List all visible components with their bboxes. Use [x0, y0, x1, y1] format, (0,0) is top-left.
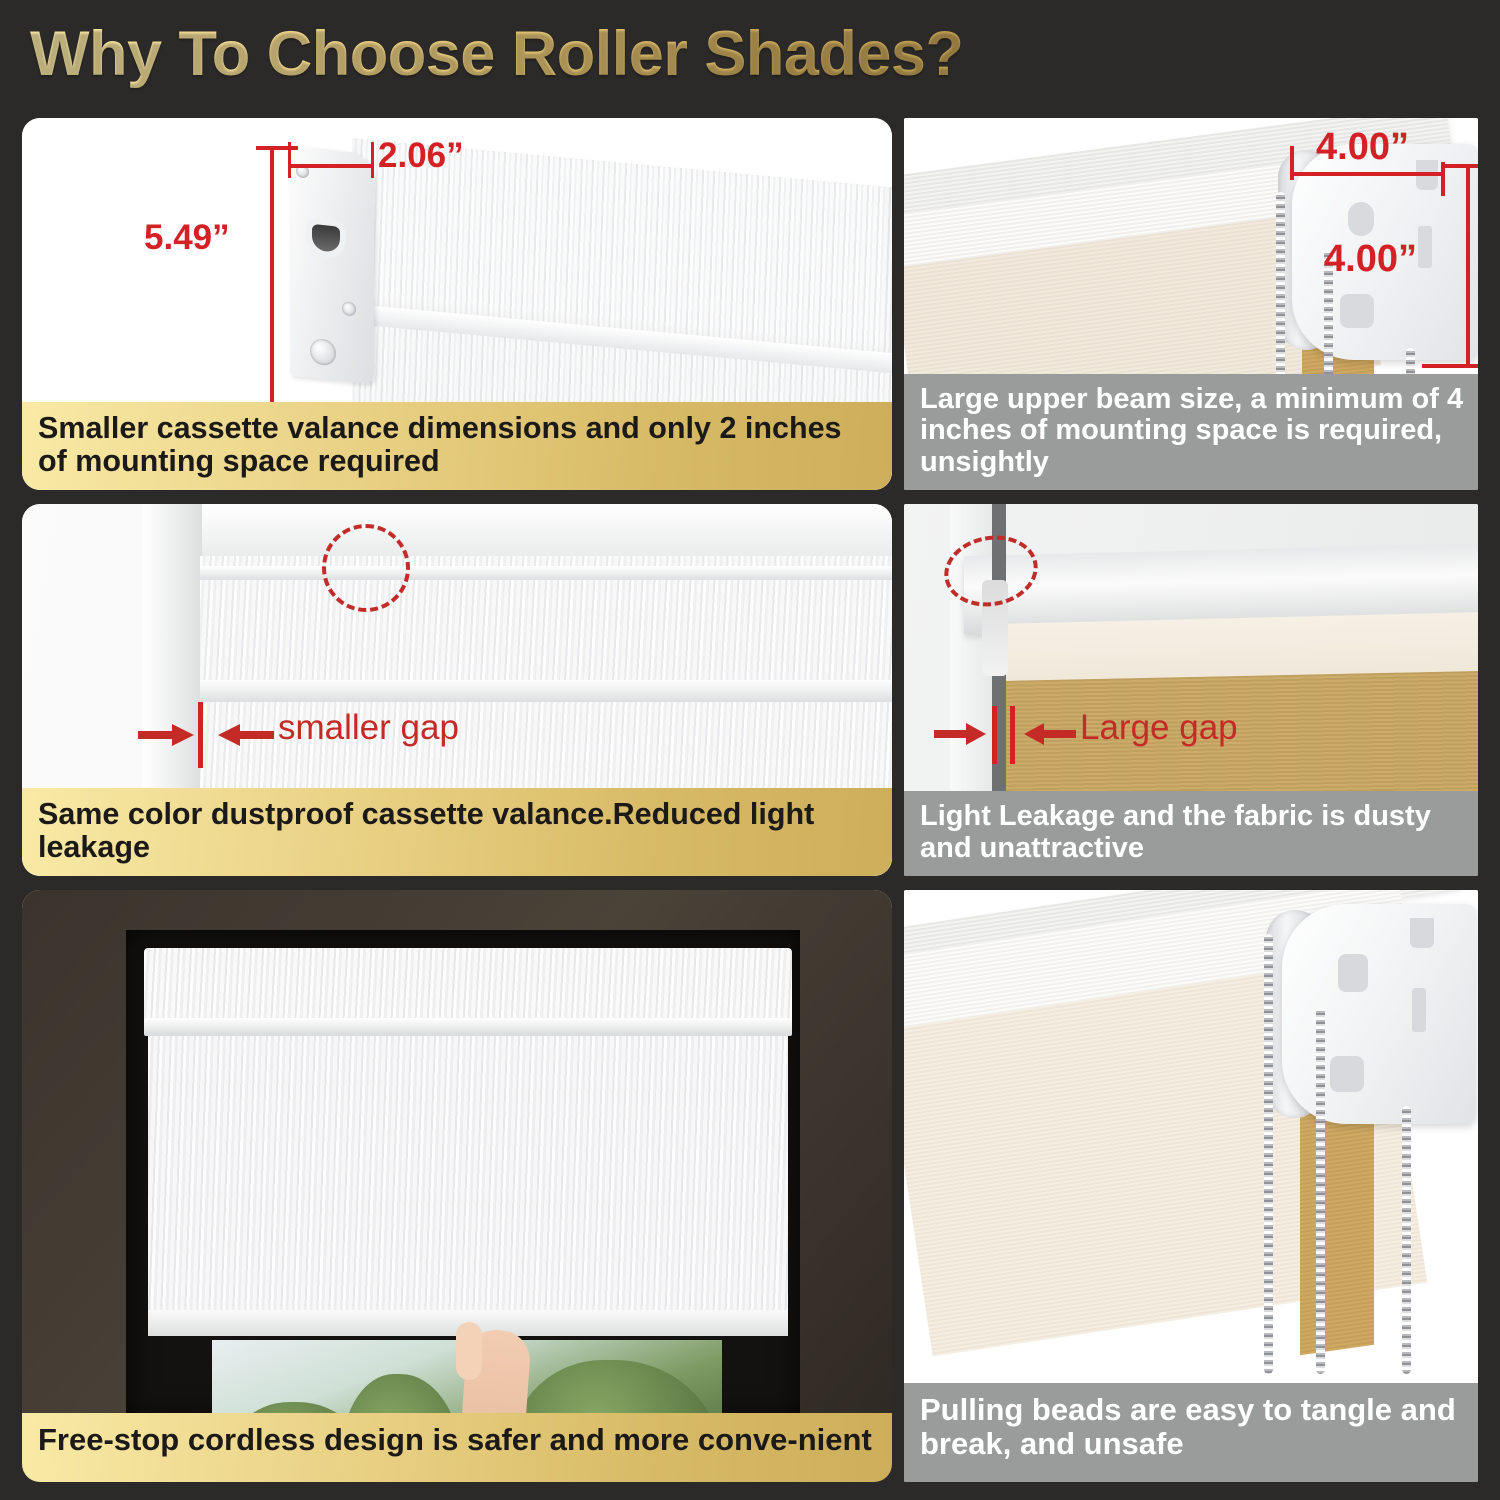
panel-smaller-cassette-valance[interactable]: 2.06” 5.49” Smaller cassette valance dim…: [22, 118, 892, 490]
page-title: Why To Choose Roller Shades?: [30, 18, 963, 90]
panel-free-stop-cordless[interactable]: Free-stop cordless design is safer and m…: [22, 890, 892, 1482]
panel-caption-smaller-cassette-valance: Smaller cassette valance dimensions and …: [22, 402, 892, 490]
panel-caption-free-stop-cordless: Free-stop cordless design is safer and m…: [22, 1413, 892, 1482]
gap-label-large: Large gap: [1080, 708, 1238, 748]
product-photo-window-scene: [22, 890, 892, 1482]
dimension-line-width: [288, 164, 374, 168]
dimension-tick-h-bottom: [1422, 364, 1478, 368]
panel-caption-large-upper-beam: Large upper beam size, a minimum of 4 in…: [904, 374, 1478, 490]
gap-marker-left: [992, 706, 997, 764]
arrow-right-icon: [138, 722, 198, 748]
arrow-left-icon: [214, 722, 274, 748]
gap-label-smaller: smaller gap: [278, 708, 459, 748]
dimension-line-h: [1466, 164, 1470, 368]
dimension-tick-width-right: [371, 142, 374, 178]
panel-large-upper-beam[interactable]: 4.00” 4.00” Large upper beam size, a min…: [904, 118, 1478, 490]
dimension-tick-height-top: [256, 146, 298, 150]
dimension-label-h: 4.00”: [1324, 238, 1417, 281]
finger: [456, 1322, 482, 1380]
gap-marker-right: [1010, 706, 1015, 764]
dimension-label-width: 2.06”: [378, 136, 464, 176]
bead-chain: [1316, 1008, 1325, 1374]
arrow-right-icon: [934, 722, 990, 746]
arrow-left-icon: [1020, 722, 1076, 746]
panel-caption-light-leakage: Light Leakage and the fabric is dusty an…: [904, 791, 1478, 876]
panel-pulling-beads[interactable]: Pulling beads are easy to tangle and bre…: [904, 890, 1478, 1482]
highlight-circle-icon: [322, 524, 410, 612]
dimension-tick-h-top: [1444, 164, 1478, 168]
panel-dustproof-cassette-valance[interactable]: smaller gap Same color dustproof cassett…: [22, 504, 892, 876]
gap-marker: [198, 702, 203, 768]
bead-chain: [1402, 1106, 1411, 1374]
bead-chain: [1264, 934, 1273, 1374]
panel-caption-dustproof-cassette-valance: Same color dustproof cassette valance.Re…: [22, 788, 892, 876]
comparison-grid: 2.06” 5.49” Smaller cassette valance dim…: [0, 118, 1500, 1500]
dimension-line-w: [1290, 172, 1444, 176]
panel-light-leakage[interactable]: Large gap Light Leakage and the fabric i…: [904, 504, 1478, 876]
dimension-label-w: 4.00”: [1316, 126, 1409, 169]
dimension-label-height: 5.49”: [144, 218, 230, 258]
panel-caption-pulling-beads: Pulling beads are easy to tangle and bre…: [904, 1383, 1478, 1482]
